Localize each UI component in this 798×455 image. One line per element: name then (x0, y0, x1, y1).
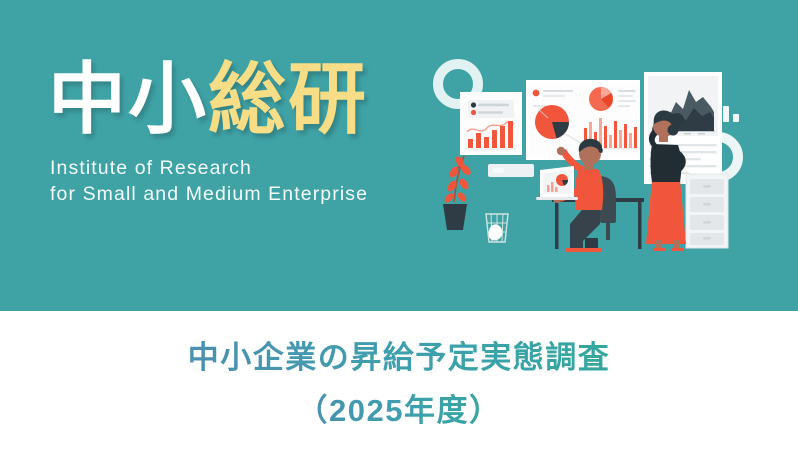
pie-chart-small (589, 87, 613, 111)
page-subtitle: （2025年度） (297, 392, 502, 429)
logo-subtitle-line-2: for Small and Medium Enterprise (50, 181, 428, 208)
page-root: 中小総研 Institute of Research for Small and… (0, 0, 798, 455)
wall-panel-bar-chart (460, 92, 522, 155)
site-logo[interactable]: 中小総研 Institute of Research for Small and… (48, 58, 428, 208)
business-data-analysis-illustration (430, 52, 798, 257)
logo-wordmark-white-part: 中小 (48, 55, 208, 143)
hero-banner: 中小総研 Institute of Research for Small and… (0, 0, 798, 311)
title-area: 中小企業の昇給予定実態調査 （2025年度） (0, 311, 798, 455)
logo-wordmark-gold-part: 総研 (208, 55, 368, 143)
page-title: 中小企業の昇給予定実態調査 (188, 336, 611, 380)
filing-cabinet (686, 174, 728, 248)
logo-subtitle: Institute of Research for Small and Medi… (50, 155, 428, 208)
logo-subtitle-line-1: Institute of Research (50, 155, 428, 182)
potted-plant (443, 155, 473, 230)
pie-chart-large (535, 105, 569, 139)
wall-plaque (488, 164, 534, 177)
laptop (536, 166, 578, 200)
wire-wastebasket (486, 214, 508, 242)
logo-wordmark: 中小総研 (48, 58, 428, 141)
